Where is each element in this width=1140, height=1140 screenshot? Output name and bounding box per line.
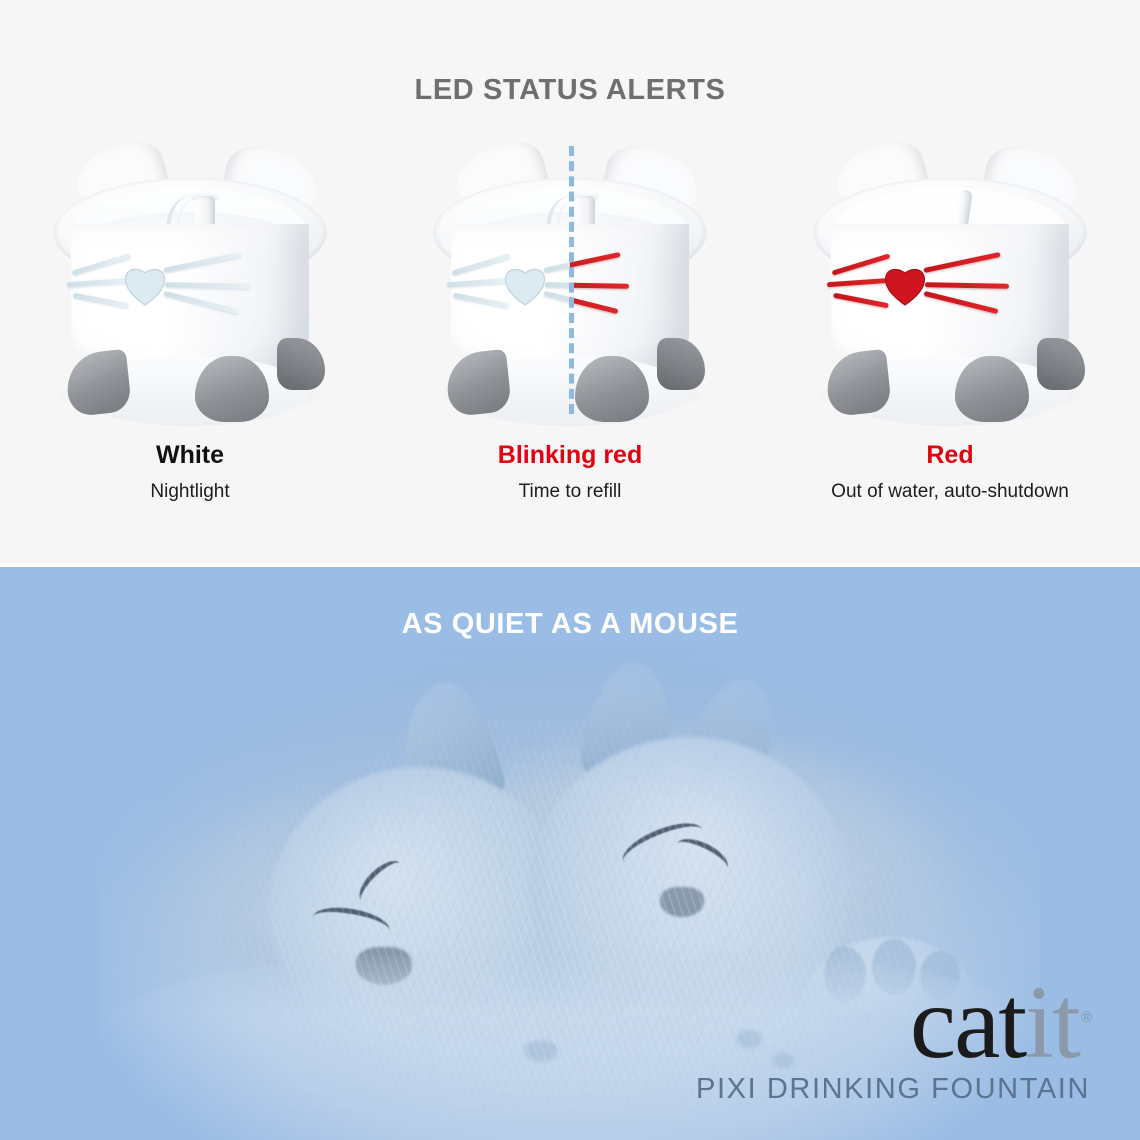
product-image-red: [805, 140, 1095, 420]
whisker-right-2: [925, 282, 1009, 288]
status-label-blinking-red: Blinking red: [380, 440, 760, 470]
whisker-left-3: [833, 293, 889, 309]
whisker-right-1: [570, 252, 621, 273]
status-label-block-red: Red Out of water, auto-shutdown: [760, 440, 1140, 503]
whisker-left-1: [832, 253, 891, 275]
cat-face-red-led: [570, 140, 715, 420]
led-heart-nose-icon: [123, 266, 167, 306]
led-heart-nose-icon: [883, 266, 927, 306]
led-status-section: LED STATUS ALERTS: [0, 0, 1140, 563]
section-title-led-status: LED STATUS ALERTS: [0, 74, 1140, 107]
product-image-blinking-red: [425, 140, 715, 420]
whisker-left-2: [827, 278, 891, 287]
status-card-white: White Nightlight: [0, 140, 380, 530]
status-card-list: White Nightlight: [0, 140, 1140, 530]
catit-wordmark: catit®: [910, 975, 1090, 1071]
whisker-left-2: [67, 278, 131, 287]
whisker-right-2: [165, 282, 249, 288]
whisker-right-3: [924, 291, 999, 314]
infographic-page: LED STATUS ALERTS: [0, 0, 1140, 1140]
cat-face-white-led: [45, 140, 335, 420]
status-card-red: Red Out of water, auto-shutdown: [760, 140, 1140, 530]
status-description-blinking-red: Time to refill: [380, 481, 760, 503]
whisker-right-3: [570, 291, 618, 314]
whisker-right-3: [164, 291, 239, 314]
registered-trademark-icon: ®: [1081, 1009, 1090, 1026]
status-label-block-white: White Nightlight: [0, 440, 380, 503]
whisker-right-1: [923, 252, 1000, 273]
whisker-left-1: [452, 253, 511, 275]
whisker-left-3: [73, 293, 129, 309]
split-divider-line: [569, 146, 574, 414]
whisker-right-1: [543, 252, 570, 273]
quiet-section: AS QUIET AS A MOUSE: [0, 567, 1140, 1140]
logo-cat-text: cat: [910, 965, 1025, 1080]
status-label-white: White: [0, 440, 380, 470]
status-description-red: Out of water, auto-shutdown: [760, 481, 1140, 503]
whisker-left-3: [453, 293, 509, 309]
status-label-block-blinking-red: Blinking red Time to refill: [380, 440, 760, 503]
whisker-left-2: [447, 278, 511, 287]
led-half-white: [425, 140, 570, 420]
status-label-red: Red: [760, 440, 1140, 470]
status-description-white: Nightlight: [0, 481, 380, 503]
catit-logo: catit® PIXI DRINKING FOUNTAIN: [696, 975, 1090, 1106]
whisker-right-2: [545, 282, 570, 288]
led-half-red: [570, 140, 715, 420]
logo-it-text: it: [1025, 965, 1079, 1080]
status-card-blinking-red: Blinking red Time to refill: [380, 140, 760, 530]
cat-face-red-led: [805, 140, 1095, 420]
whisker-right-1: [163, 252, 240, 273]
whisker-right-3: [544, 291, 570, 314]
cat-face-white-led: [425, 140, 570, 420]
product-image-white: [45, 140, 335, 420]
led-heart-nose-icon: [503, 266, 547, 306]
section-title-quiet: AS QUIET AS A MOUSE: [0, 608, 1140, 641]
whisker-left-1: [72, 253, 131, 275]
whisker-right-2: [570, 282, 629, 288]
